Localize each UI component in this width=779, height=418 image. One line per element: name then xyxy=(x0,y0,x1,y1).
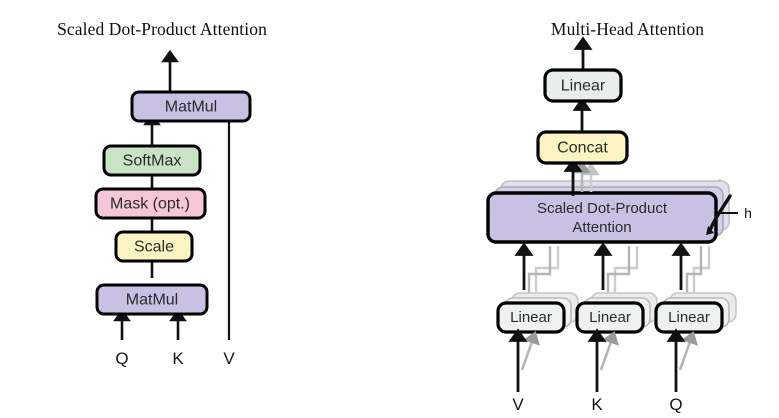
node-linear-q[interactable]: Linear xyxy=(656,303,722,332)
node-linear-k-label: Linear xyxy=(589,309,631,326)
node-matmul-top-label: MatMul xyxy=(165,99,217,116)
mha-input-arrows xyxy=(518,334,692,392)
panel-scaled-dot-product-attention: Scaled Dot-Product Attention xyxy=(0,0,400,418)
heads-count-label: h xyxy=(744,205,752,221)
node-scaled-dot-product-attention[interactable]: Scaled Dot-Product Attention xyxy=(488,193,716,242)
node-linear-k[interactable]: Linear xyxy=(577,303,643,332)
node-linear-output-label: Linear xyxy=(561,78,606,95)
node-scale-label: Scale xyxy=(134,239,174,256)
node-mask-label: Mask (opt.) xyxy=(110,196,190,213)
node-matmul-bottom-label: MatMul xyxy=(126,292,178,309)
mha-input-label-k: K xyxy=(591,395,603,414)
node-linear-q-label: Linear xyxy=(668,309,710,326)
node-sdpa-label-line1: Scaled Dot-Product xyxy=(537,200,668,217)
attention-figure: Scaled Dot-Product Attention xyxy=(0,0,779,418)
node-scale[interactable]: Scale xyxy=(116,232,192,261)
node-softmax[interactable]: SoftMax xyxy=(104,146,200,175)
mha-input-label-q: Q xyxy=(669,395,682,414)
node-mask[interactable]: Mask (opt.) xyxy=(96,189,205,218)
node-linear-output[interactable]: Linear xyxy=(545,70,621,101)
node-sdpa-label-line2: Attention xyxy=(572,219,631,236)
mha-input-label-v: V xyxy=(512,395,524,414)
node-softmax-label: SoftMax xyxy=(123,153,182,170)
node-linear-v[interactable]: Linear xyxy=(498,303,564,332)
panel-multi-head-attention: Multi-Head Attention xyxy=(400,0,779,418)
node-concat-label: Concat xyxy=(557,140,608,157)
node-concat[interactable]: Concat xyxy=(538,132,627,163)
input-label-q: Q xyxy=(115,349,128,368)
input-label-k: K xyxy=(172,349,184,368)
node-matmul-bottom[interactable]: MatMul xyxy=(97,285,207,314)
input-label-v: V xyxy=(223,349,235,368)
multi-head-attention-diagram: Scaled Dot-Product Attention h Concat xyxy=(400,0,779,418)
node-linear-v-label: Linear xyxy=(510,309,552,326)
scaled-dot-product-diagram: MatMul SoftMax Mask (opt.) Scale MatMul xyxy=(0,0,400,418)
node-matmul-top[interactable]: MatMul xyxy=(132,92,250,121)
